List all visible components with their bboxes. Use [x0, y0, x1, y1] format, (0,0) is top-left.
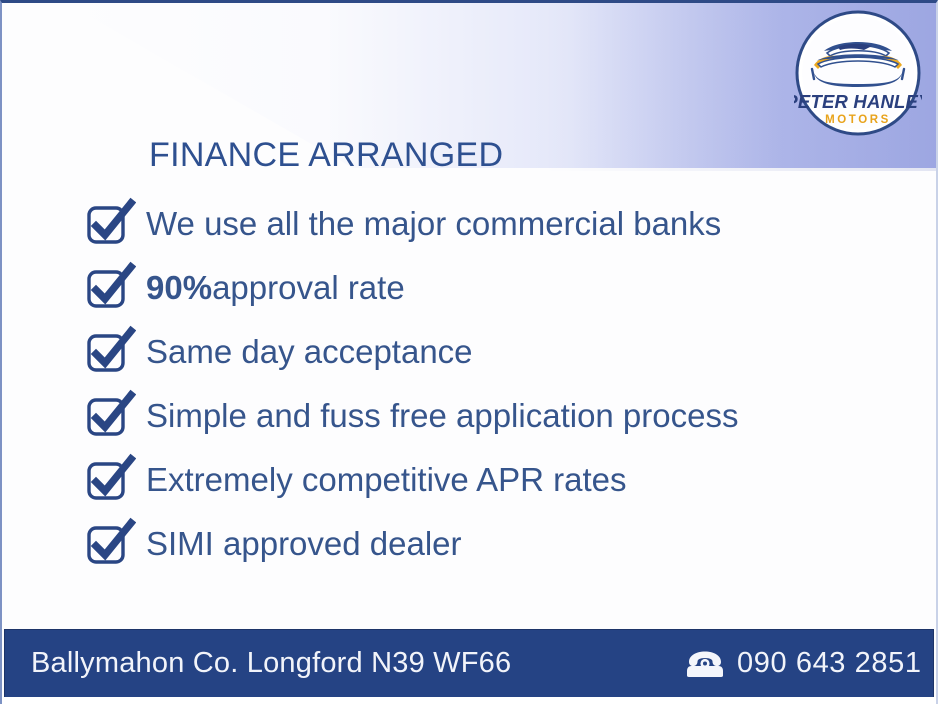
checkbox-checked-icon	[84, 392, 136, 438]
checkbox-checked-icon	[84, 264, 136, 310]
list-item: Same day acceptance	[84, 319, 884, 383]
poster-canvas: PETER HANLEY MOTORS FINANCE ARRANGED We …	[0, 0, 938, 704]
list-item-label: We use all the major commercial banks	[146, 207, 721, 240]
peter-hanley-motors-logo: PETER HANLEY MOTORS	[794, 9, 922, 137]
list-item-label: Same day acceptance	[146, 335, 473, 368]
footer-bar: Ballymahon Co. Longford N39 WF66 090 643…	[4, 629, 934, 698]
list-item: 90% approval rate	[84, 255, 884, 319]
list-item-label: SIMI approved dealer	[146, 527, 462, 560]
address-text: Ballymahon Co. Longford N39 WF66	[31, 647, 511, 680]
phone-number: 090 643 2851	[737, 647, 922, 680]
checkbox-checked-icon	[84, 328, 136, 374]
list-item: We use all the major commercial banks	[84, 191, 884, 255]
list-item: Extremely competitive APR rates	[84, 447, 884, 511]
checkbox-checked-icon	[84, 456, 136, 502]
benefits-checklist: We use all the major commercial banks 90…	[84, 191, 884, 575]
logo-brand-name: PETER HANLEY	[794, 91, 922, 112]
page-title: FINANCE ARRANGED	[149, 136, 503, 175]
list-item: SIMI approved dealer	[84, 511, 884, 575]
phone-block[interactable]: 090 643 2851	[685, 647, 922, 680]
checkbox-checked-icon	[84, 520, 136, 566]
list-item-label: approval rate	[212, 271, 405, 304]
list-item-label-emphasis: 90%	[146, 271, 212, 304]
list-item: Simple and fuss free application process	[84, 383, 884, 447]
list-item-label: Extremely competitive APR rates	[146, 463, 627, 496]
logo-brand-sub: MOTORS	[825, 114, 891, 126]
list-item-label: Simple and fuss free application process	[146, 399, 739, 432]
telephone-icon	[685, 649, 725, 679]
bottom-white-strip	[2, 697, 936, 704]
checkbox-checked-icon	[84, 200, 136, 246]
